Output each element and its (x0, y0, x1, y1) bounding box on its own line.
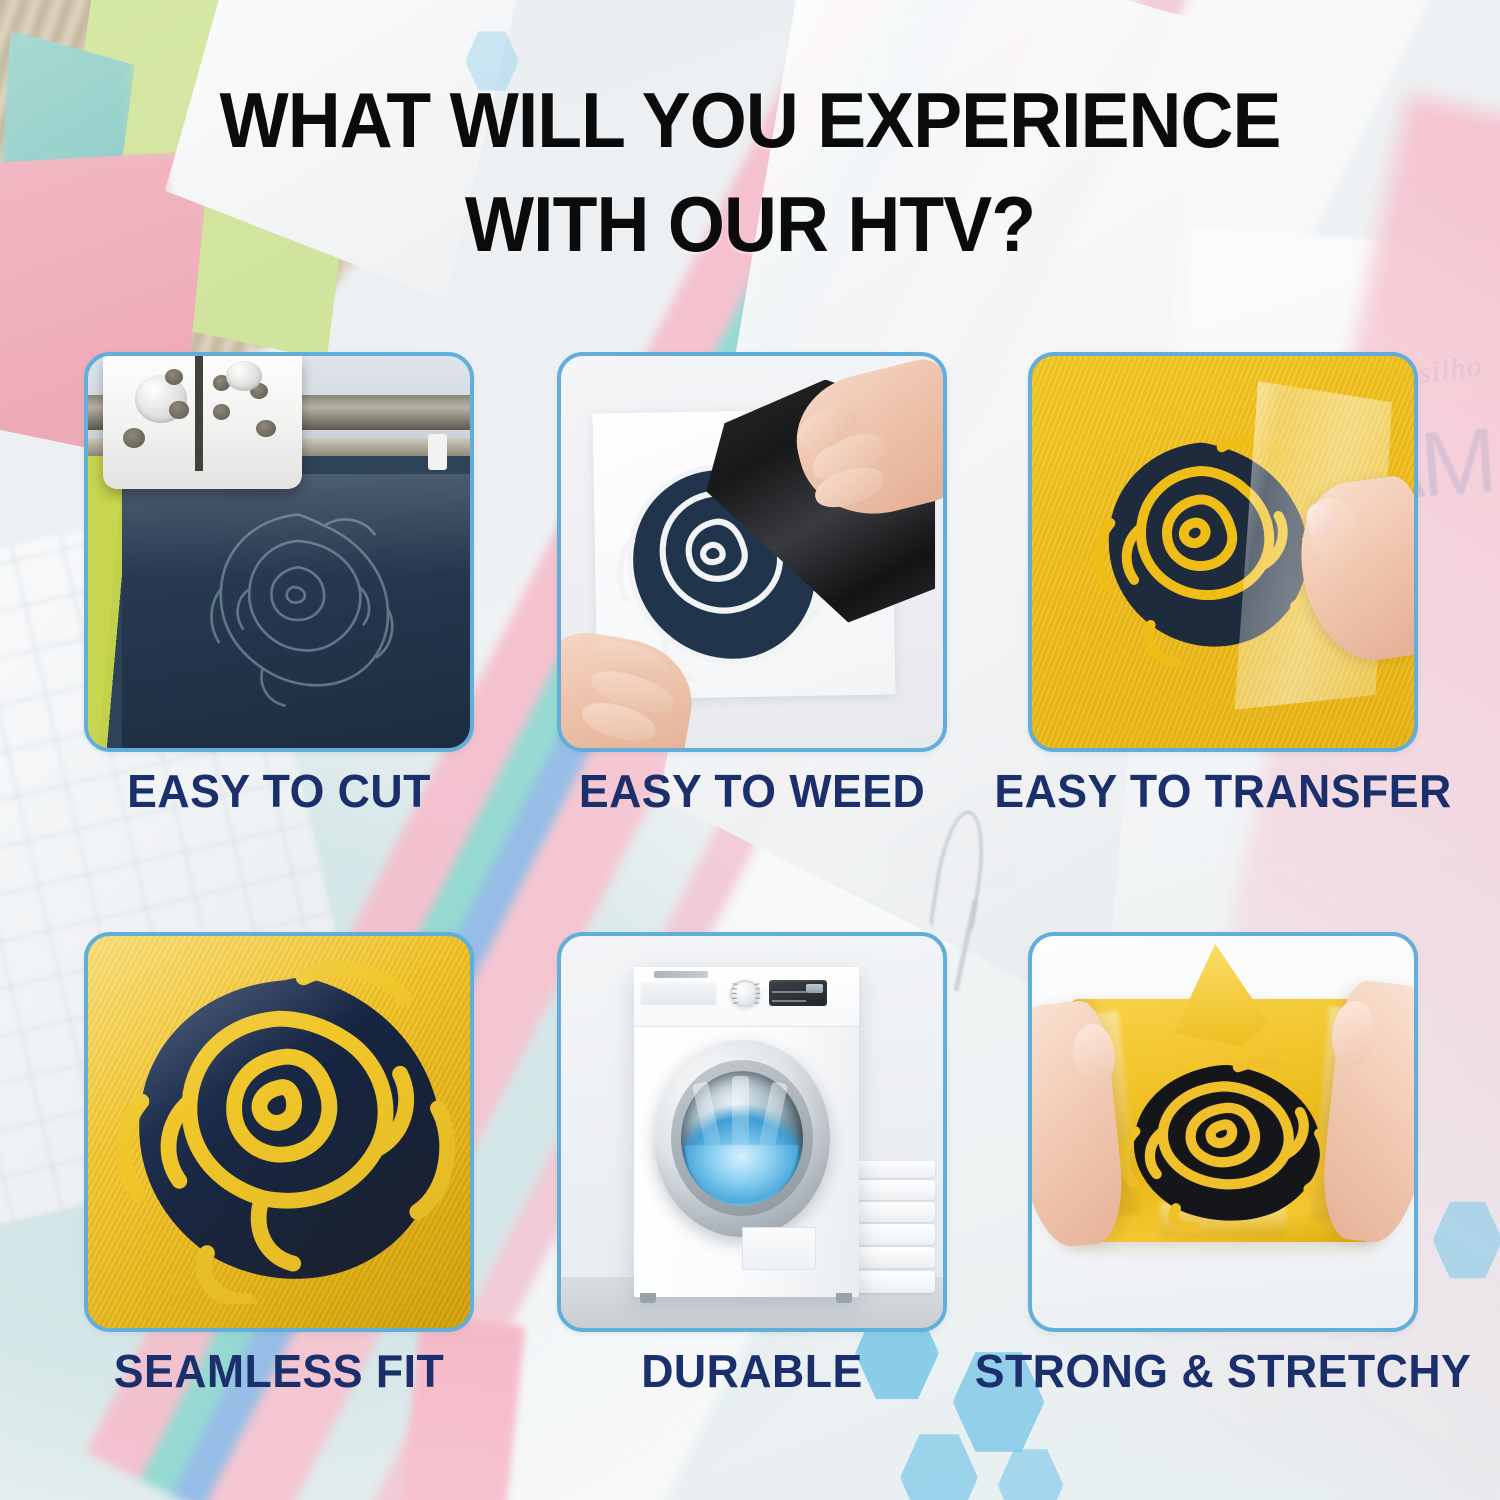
washing-machine-body (634, 967, 859, 1296)
weeding-vinyl-photo (557, 352, 947, 752)
feature-cell-easy-to-transfer[interactable]: EASY TO TRANSFER (1028, 352, 1418, 752)
carriage-screw (169, 401, 189, 418)
page-title-line-1: WHAT WILL YOU EXPERIENCE (45, 74, 1455, 166)
folded-towel (851, 1271, 935, 1293)
machine-foot (640, 1293, 656, 1303)
feature-cell-durable[interactable]: DURABLE (557, 932, 947, 1332)
folded-towel (851, 1224, 935, 1245)
rail-clip (428, 434, 447, 469)
folded-towel (851, 1247, 935, 1268)
stretch-test-photo (1028, 932, 1418, 1332)
washing-machine-photo (557, 932, 947, 1332)
folded-towels-stack (851, 1163, 935, 1292)
lcd-option-rows (772, 984, 806, 1002)
feature-cell-seamless-fit[interactable]: SEAMLESS FIT (84, 932, 474, 1332)
folded-towel (851, 1161, 935, 1178)
carriage-screw (213, 404, 231, 420)
control-panel-strip (634, 967, 859, 1026)
rose-cut-outline-icon (187, 497, 409, 717)
feature-cell-easy-to-weed[interactable]: EASY TO WEED (557, 352, 947, 752)
page-title-line-2: WITH OUR HTV? (45, 178, 1455, 270)
brand-logo-mark (654, 971, 708, 977)
machine-foot (836, 1293, 852, 1303)
fabric-sheen-overlay (88, 936, 470, 1328)
feature-cell-strong-and-stretchy[interactable]: STRONG & STRETCHY (1028, 932, 1418, 1332)
feature-caption-easy-to-weed: EASY TO WEED (505, 764, 1000, 818)
transfer-peel-photo (1028, 352, 1418, 752)
carriage-screw (165, 369, 183, 385)
feature-cell-easy-to-cut[interactable]: EASY TO CUT (84, 352, 474, 752)
feature-caption-strong-and-stretchy: STRONG & STRETCHY (966, 1344, 1480, 1398)
feature-row: EASY TO CUT (0, 352, 1500, 932)
fabric-peak-fold (1170, 944, 1269, 1046)
carriage-screw (123, 428, 145, 448)
detergent-drawer[interactable] (640, 981, 717, 1004)
black-rose-on-stretched-fabric-icon (1116, 1054, 1330, 1234)
seamless-fit-closeup-photo (84, 932, 474, 1332)
feature-caption-easy-to-cut: EASY TO CUT (32, 764, 527, 818)
feature-row: SEAMLESS FIT (0, 932, 1500, 1500)
feature-caption-seamless-fit: SEAMLESS FIT (32, 1344, 527, 1398)
carriage-screw (256, 420, 276, 437)
dial-tick-marks-icon (719, 979, 773, 1009)
feature-grid: EASY TO CUT (0, 352, 1500, 1500)
feature-caption-durable: DURABLE (505, 1344, 1000, 1398)
folded-towel (851, 1202, 935, 1221)
lcd-time-segment (806, 984, 822, 993)
lcd-display (769, 980, 828, 1006)
folded-towel (851, 1180, 935, 1199)
pen-holder-knob (226, 361, 262, 390)
filter-access-door[interactable] (742, 1227, 816, 1270)
feature-caption-easy-to-transfer: EASY TO TRANSFER (966, 764, 1480, 818)
cutting-carriage-head (103, 356, 302, 489)
vinyl-cutting-machine-photo (84, 352, 474, 752)
